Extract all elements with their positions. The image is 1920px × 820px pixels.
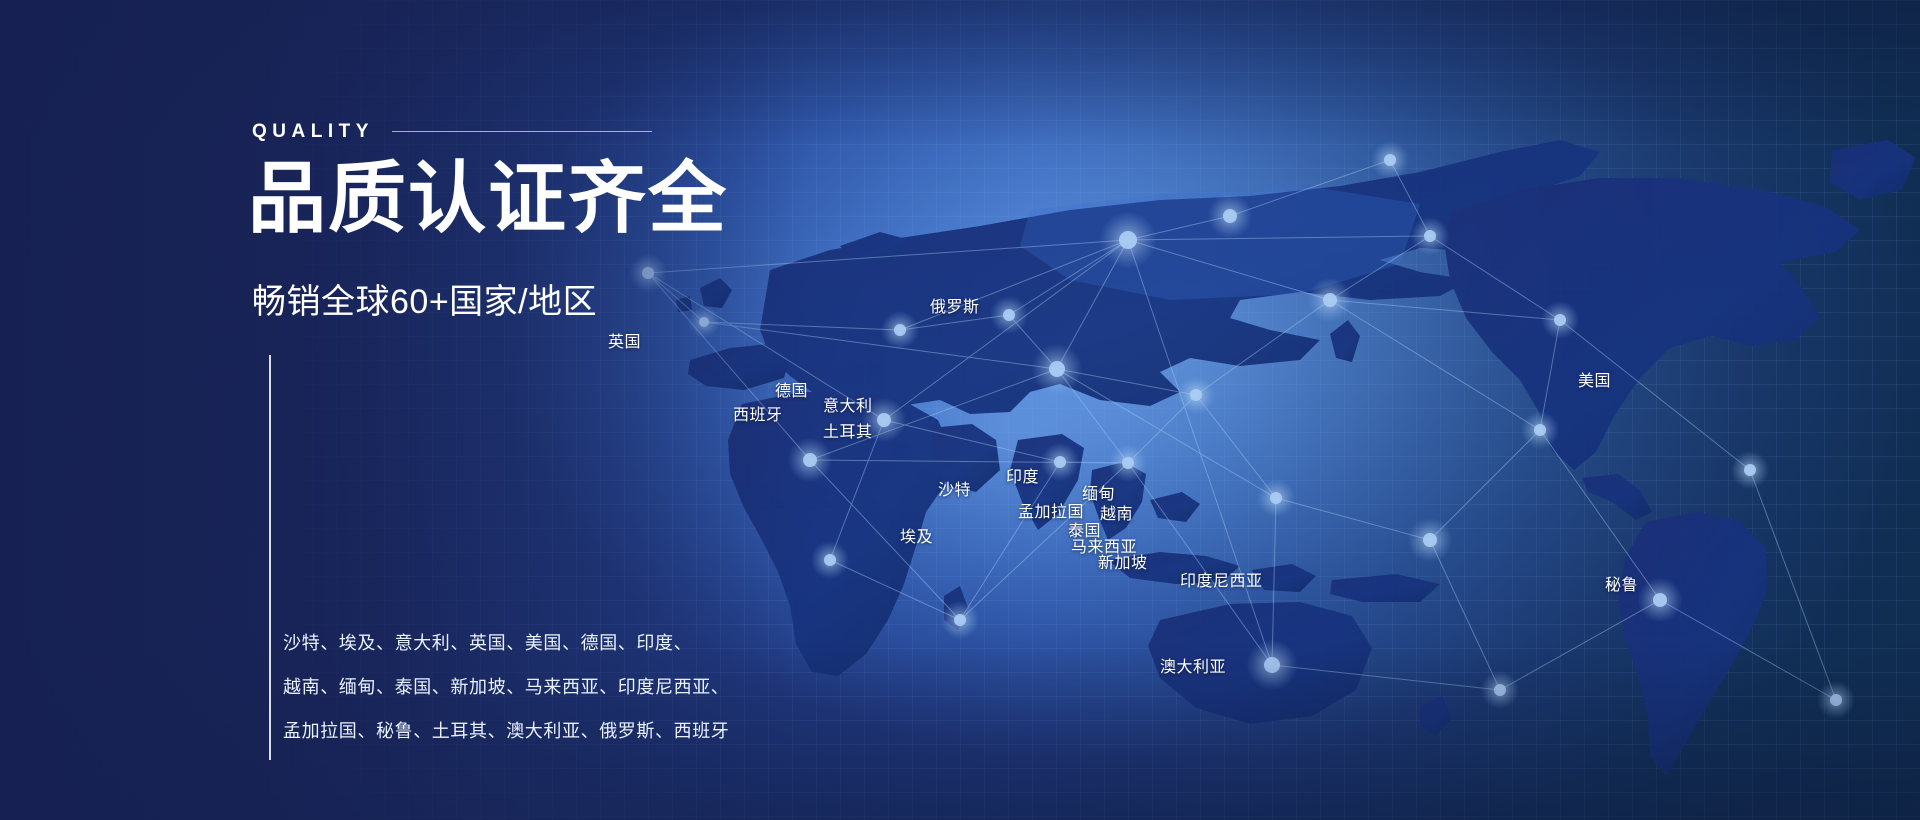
country-list: 沙特、埃及、意大利、英国、美国、德国、印度、越南、缅甸、泰国、新加坡、马来西亚、… (283, 634, 729, 740)
map-label-india: 印度 (1006, 470, 1039, 486)
map-label-turkey: 土耳其 (823, 425, 873, 441)
page-subtitle: 畅销全球60+国家/地区 (252, 282, 597, 323)
map-label-united-states: 美国 (1578, 374, 1611, 390)
eyebrow-row: QUALITY (252, 122, 652, 141)
map-label-peru: 秘鲁 (1605, 578, 1638, 594)
map-label-malaysia: 马来西亚 (1071, 540, 1137, 556)
country-list-line: 沙特、埃及、意大利、英国、美国、德国、印度、 (283, 634, 729, 652)
map-label-australia: 澳大利亚 (1160, 660, 1226, 676)
map-label-saudi-arabia: 沙特 (938, 483, 971, 499)
map-label-united-kingdom: 英国 (608, 335, 641, 351)
map-label-vietnam: 越南 (1100, 507, 1133, 523)
country-list-line: 孟加拉国、秘鲁、土耳其、澳大利亚、俄罗斯、西班牙 (283, 722, 729, 740)
map-label-russia: 俄罗斯 (930, 300, 980, 316)
eyebrow-divider-line (392, 131, 652, 132)
eyebrow-label: QUALITY (252, 122, 374, 141)
map-label-germany: 德国 (775, 384, 808, 400)
map-label-myanmar: 缅甸 (1082, 487, 1115, 503)
map-label-singapore: 新加坡 (1098, 556, 1148, 572)
map-label-egypt: 埃及 (900, 530, 933, 546)
map-label-italy: 意大利 (823, 399, 873, 415)
vertical-divider-line (269, 355, 271, 760)
map-label-spain: 西班牙 (733, 408, 783, 424)
country-list-line: 越南、缅甸、泰国、新加坡、马来西亚、印度尼西亚、 (283, 678, 729, 696)
promo-banner: QUALITY 品质认证齐全 畅销全球60+国家/地区 沙特、埃及、意大利、英国… (0, 0, 1920, 820)
map-label-thailand: 泰国 (1068, 524, 1101, 540)
map-label-indonesia: 印度尼西亚 (1180, 574, 1263, 590)
page-title: 品质认证齐全 (248, 158, 728, 240)
map-label-bangladesh: 孟加拉国 (1018, 505, 1084, 521)
